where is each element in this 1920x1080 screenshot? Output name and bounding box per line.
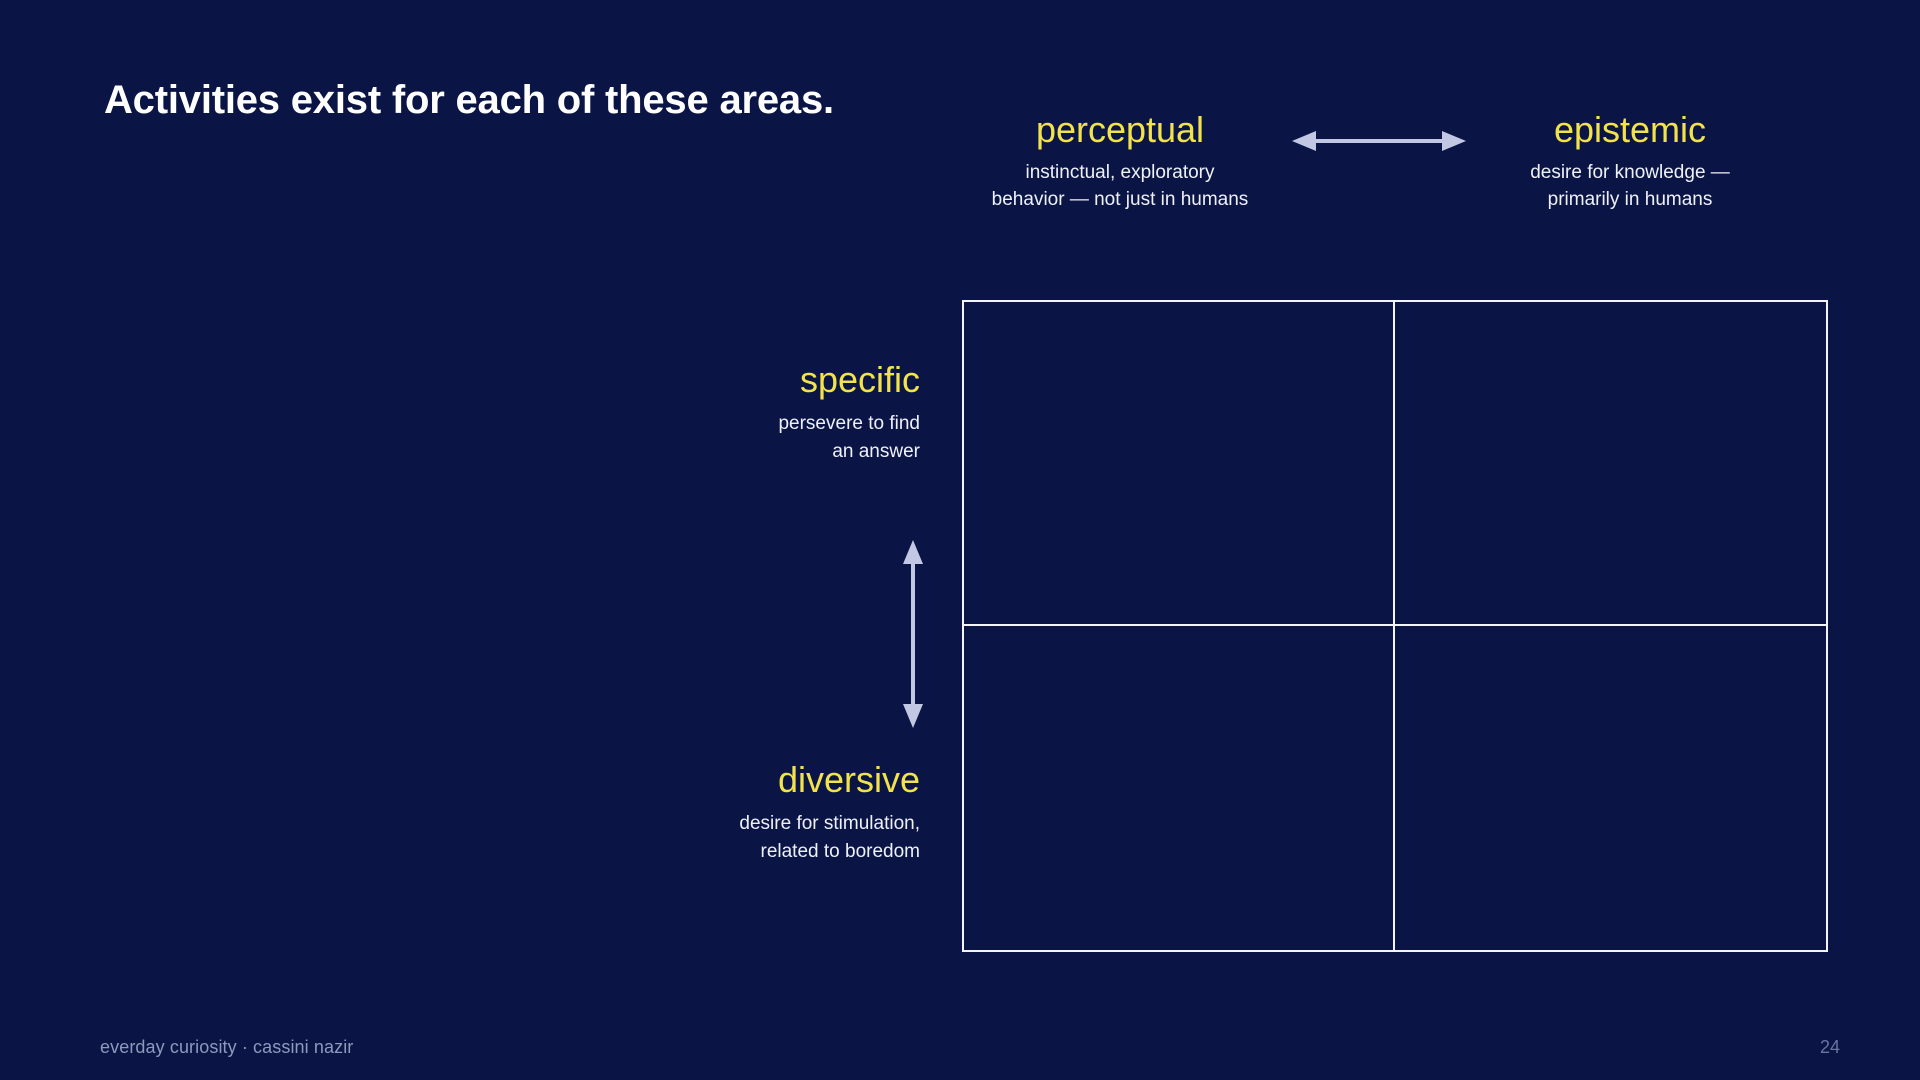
quadrant-perceptual-diversive[interactable] xyxy=(964,626,1395,950)
axis-description-diversive: desire for stimulation, related to bored… xyxy=(560,810,920,865)
quadrant-epistemic-specific[interactable] xyxy=(1395,302,1826,626)
slide-canvas: Activities exist for each of these areas… xyxy=(0,0,1920,1080)
axis-pole-epistemic: epistemic desire for knowledge — primari… xyxy=(1470,110,1790,214)
axis-description-epistemic-line2: primarily in humans xyxy=(1470,187,1790,214)
axis-description-epistemic-line1: desire for knowledge — xyxy=(1470,160,1790,187)
axis-pole-specific: specific persevere to find an answer xyxy=(560,360,920,465)
footer-page-number: 24 xyxy=(1820,1037,1840,1058)
axis-description-perceptual: instinctual, exploratory behavior — not … xyxy=(960,160,1280,214)
axis-description-diversive-line1: desire for stimulation, xyxy=(560,810,920,838)
axis-pole-perceptual: perceptual instinctual, exploratory beha… xyxy=(960,110,1280,214)
axis-description-perceptual-line1: instinctual, exploratory xyxy=(960,160,1280,187)
axis-label-epistemic: epistemic xyxy=(1470,110,1790,150)
quadrant-grid xyxy=(962,300,1828,952)
horizontal-axis: perceptual instinctual, exploratory beha… xyxy=(960,110,1840,250)
axis-description-perceptual-line2: behavior — not just in humans xyxy=(960,187,1280,214)
axis-description-specific: persevere to find an answer xyxy=(560,410,920,465)
axis-label-perceptual: perceptual xyxy=(960,110,1280,150)
axis-description-specific-line2: an answer xyxy=(560,438,920,466)
axis-description-diversive-line2: related to boredom xyxy=(560,838,920,866)
axis-label-diversive: diversive xyxy=(560,760,920,800)
quadrant-perceptual-specific[interactable] xyxy=(964,302,1395,626)
page-title: Activities exist for each of these areas… xyxy=(104,78,834,123)
quadrant-epistemic-diversive[interactable] xyxy=(1395,626,1826,950)
axis-description-specific-line1: persevere to find xyxy=(560,410,920,438)
vertical-axis: specific persevere to find an answer div… xyxy=(560,360,920,890)
axis-pole-diversive: diversive desire for stimulation, relate… xyxy=(560,760,920,865)
footer-credit: everday curiosity · cassini nazir xyxy=(100,1037,353,1058)
double-arrow-horizontal-icon xyxy=(1290,128,1468,154)
double-arrow-vertical-icon xyxy=(900,538,926,730)
axis-label-specific: specific xyxy=(560,360,920,400)
axis-description-epistemic: desire for knowledge — primarily in huma… xyxy=(1470,160,1790,214)
